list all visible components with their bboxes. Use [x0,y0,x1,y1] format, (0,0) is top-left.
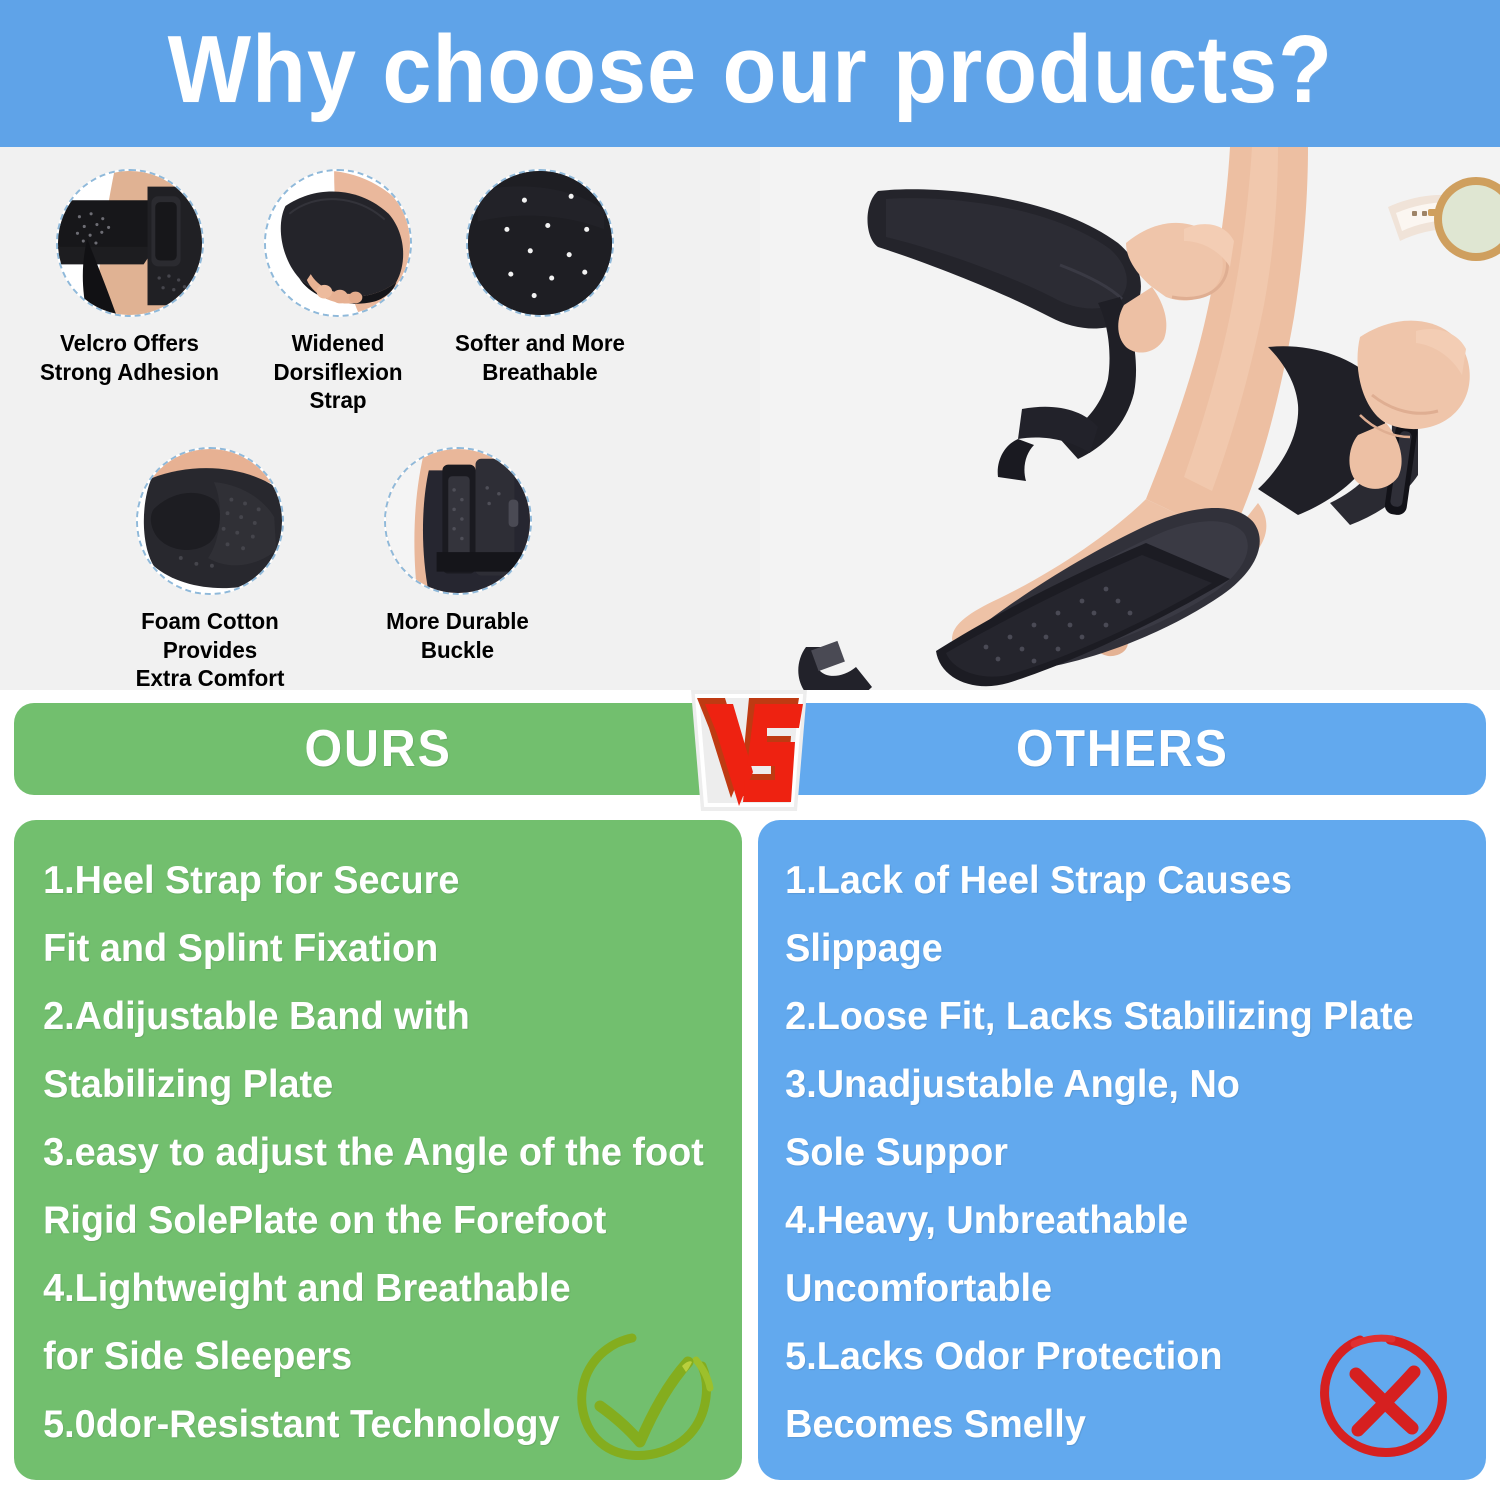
list-item: Fit and Splint Fixation [14,914,720,982]
features-section: Velcro Offers Strong Adhesion Widened Do… [0,147,1500,690]
list-item: 3.easy to adjust the Angle of the foot [14,1118,720,1186]
check-mark-icon [570,1322,720,1472]
list-item: 1.Heel Strap for Secure [14,846,720,914]
ours-panel: 1.Heel Strap for Secure Fit and Splint F… [14,820,742,1480]
list-item: Uncomfortable [758,1254,1464,1322]
feature-foam-cotton: Foam Cotton Provides Extra Comfort [85,447,335,693]
buckle-closeup-photo [386,449,530,593]
foam-cotton-padding-closeup-photo [138,449,282,593]
ours-header-bar: OURS [14,703,742,795]
list-item: 4.Lightweight and Breathable [14,1254,720,1322]
others-header-label: OTHERS [1016,719,1229,779]
dorsiflexion-strap-closeup-photo [266,171,410,315]
list-item: Slippage [758,914,1464,982]
velcro-strap-closeup-photo [58,171,202,315]
feature-callouts-group: Velcro Offers Strong Adhesion Widened Do… [0,147,760,690]
others-panel: 1.Lack of Heel Strap Causes Slippage 2.L… [758,820,1486,1480]
vs-badge-graphic [683,688,815,813]
versus-badge [683,688,815,813]
foot-splint-photo-illustration [760,147,1500,690]
feature-breathable-caption: Softer and More Breathable [445,329,635,386]
list-item: 3.Unadjustable Angle, No [758,1050,1464,1118]
page-header-banner: Why choose our products? [0,0,1500,147]
ours-header-label: OURS [304,719,451,779]
feature-breathable: Softer and More Breathable [440,169,640,386]
feature-buckle-circle [384,447,532,595]
others-header-bar: OTHERS [758,703,1486,795]
list-item: 4.Heavy, Unbreathable [758,1186,1464,1254]
product-hero-photo [760,147,1500,690]
feature-velcro-caption: Velcro Offers Strong Adhesion [27,329,231,386]
perforated-fabric-closeup-photo [468,171,612,315]
feature-dorsiflexion-circle [264,169,412,317]
feature-velcro: Velcro Offers Strong Adhesion [22,169,237,386]
list-item: Sole Suppor [758,1118,1464,1186]
cross-mark-icon [1314,1322,1464,1472]
list-item: 2.Adijustable Band with [14,982,720,1050]
feature-buckle-caption: More Durable Buckle [365,607,550,664]
list-item: Stabilizing Plate [14,1050,720,1118]
feature-foam-cotton-circle [136,447,284,595]
list-item: Rigid SolePlate on the Forefoot [14,1186,720,1254]
feature-buckle: More Durable Buckle [360,447,555,664]
page-title: Why choose our products? [167,22,1332,126]
feature-velcro-circle [56,169,204,317]
feature-foam-cotton-caption: Foam Cotton Provides Extra Comfort [91,607,329,693]
list-item: 2.Loose Fit, Lacks Stabilizing Plate [758,982,1464,1050]
comparison-panels: 1.Heel Strap for Secure Fit and Splint F… [0,820,1500,1488]
feature-breathable-circle [466,169,614,317]
list-item: 1.Lack of Heel Strap Causes [758,846,1464,914]
feature-dorsiflexion: Widened Dorsiflexion Strap [243,169,433,415]
feature-dorsiflexion-caption: Widened Dorsiflexion Strap [248,329,429,415]
